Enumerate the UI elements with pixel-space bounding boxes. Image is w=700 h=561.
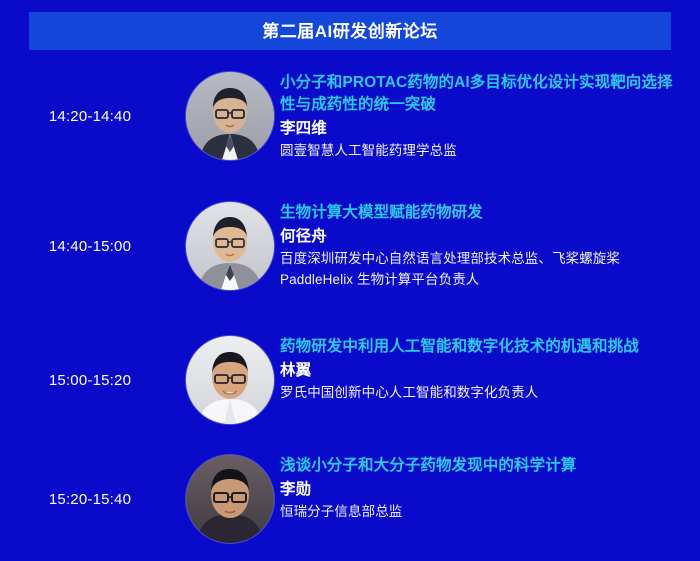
avatar-cell bbox=[180, 330, 280, 424]
avatar bbox=[186, 336, 274, 424]
session-title: 生物计算大模型赋能药物研发 bbox=[280, 202, 678, 224]
speaker-organization: 圆壹智慧人工智能药理学总监 bbox=[280, 141, 678, 162]
session-info: 药物研发中利用人工智能和数字化技术的机遇和挑战 林翼 罗氏中国创新中心人工智能和… bbox=[280, 330, 700, 404]
avatar-cell bbox=[180, 449, 280, 543]
session-info: 生物计算大模型赋能药物研发 何径舟 百度深圳研发中心自然语言处理部技术总监、飞桨… bbox=[280, 196, 700, 290]
session-title: 药物研发中利用人工智能和数字化技术的机遇和挑战 bbox=[280, 336, 678, 358]
session-time: 14:20-14:40 bbox=[49, 108, 131, 125]
forum-agenda-poster: 第二届AI研发创新论坛 14:20-14:40 bbox=[0, 0, 700, 561]
session-time-cell: 15:20-15:40 bbox=[0, 449, 180, 549]
speaker-name: 李四维 bbox=[280, 117, 678, 140]
session-time-cell: 15:00-15:20 bbox=[0, 330, 180, 430]
session-time-cell: 14:20-14:40 bbox=[0, 66, 180, 166]
session-time: 15:20-15:40 bbox=[49, 491, 131, 508]
agenda-row: 15:20-15:40 bbox=[0, 449, 700, 559]
avatar bbox=[186, 455, 274, 543]
session-time: 14:40-15:00 bbox=[49, 238, 131, 255]
speaker-organization: 罗氏中国创新中心人工智能和数字化负责人 bbox=[280, 383, 678, 404]
speaker-name: 林翼 bbox=[280, 359, 678, 382]
avatar bbox=[186, 202, 274, 290]
avatar-cell bbox=[180, 196, 280, 290]
session-title: 小分子和PROTAC药物的AI多目标优化设计实现靶向选择性与成药性的统一突破 bbox=[280, 72, 678, 116]
agenda-list: 14:20-14:40 bbox=[0, 56, 700, 561]
speaker-name: 李勋 bbox=[280, 478, 678, 501]
session-info: 浅谈小分子和大分子药物发现中的科学计算 李勋 恒瑞分子信息部总监 bbox=[280, 449, 700, 523]
avatar bbox=[186, 72, 274, 160]
agenda-row: 14:20-14:40 bbox=[0, 66, 700, 186]
session-time-cell: 14:40-15:00 bbox=[0, 196, 180, 296]
session-time: 15:00-15:20 bbox=[49, 372, 131, 389]
header-banner: 第二届AI研发创新论坛 bbox=[29, 12, 671, 50]
agenda-row: 15:00-15:20 bbox=[0, 330, 700, 445]
session-title: 浅谈小分子和大分子药物发现中的科学计算 bbox=[280, 455, 678, 477]
speaker-organization: 恒瑞分子信息部总监 bbox=[280, 502, 678, 523]
speaker-name: 何径舟 bbox=[280, 225, 678, 248]
session-info: 小分子和PROTAC药物的AI多目标优化设计实现靶向选择性与成药性的统一突破 李… bbox=[280, 66, 700, 162]
speaker-organization: 百度深圳研发中心自然语言处理部技术总监、飞桨螺旋桨 PaddleHelix 生物… bbox=[280, 249, 678, 290]
avatar-cell bbox=[180, 66, 280, 160]
page-title: 第二届AI研发创新论坛 bbox=[262, 23, 438, 40]
agenda-row: 14:40-15:00 bbox=[0, 196, 700, 326]
